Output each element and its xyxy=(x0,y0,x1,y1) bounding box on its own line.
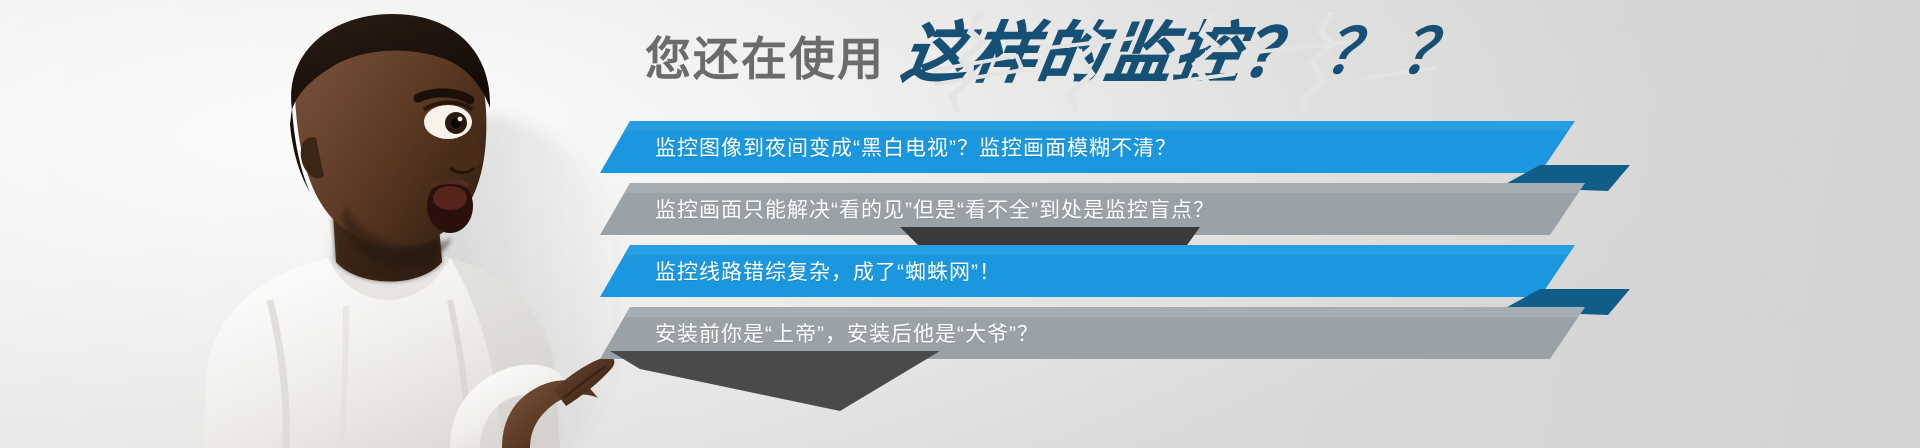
bullet-bar-3-label: 监控线路错综复杂，成了“蜘蛛网”！ xyxy=(655,256,1001,286)
bullet-bar-4-label: 安装前你是“上帝”，安装后他是“大爷”？ xyxy=(655,318,1039,348)
headline: 您还在使用 这样的监控？ ？？ xyxy=(645,20,1477,86)
bar-fold-4 xyxy=(610,351,940,411)
bullet-bar-3[interactable]: 监控线路错综复杂，成了“蜘蛛网”！ xyxy=(600,245,1575,297)
headline-question-marks: ？？ xyxy=(1320,22,1482,86)
headline-plain-text: 您还在使用 xyxy=(645,36,885,86)
bullet-bar-list: 监控图像到夜间变成“黑白电视”？监控画面模糊不清？ 监控画面只能解决“看的见”但… xyxy=(0,113,1920,373)
bullet-bar-2[interactable]: 监控画面只能解决“看的见”但是“看不全”到处是监控盲点？ xyxy=(600,183,1585,235)
promo-banner: 您还在使用 这样的监控？ ？？ xyxy=(0,0,1920,448)
bullet-bar-4[interactable]: 安装前你是“上帝”，安装后他是“大爷”？ xyxy=(600,307,1585,359)
bullet-bar-1[interactable]: 监控图像到夜间变成“黑白电视”？监控画面模糊不清？ xyxy=(600,121,1575,173)
bullet-bar-1-label: 监控图像到夜间变成“黑白电视”？监控画面模糊不清？ xyxy=(655,132,1177,162)
headline-accent-label: 这样的监控？ xyxy=(897,16,1317,90)
bullet-bar-2-label: 监控画面只能解决“看的见”但是“看不全”到处是监控盲点？ xyxy=(655,194,1215,224)
headline-accent-text: 这样的监控？ xyxy=(898,20,1316,86)
